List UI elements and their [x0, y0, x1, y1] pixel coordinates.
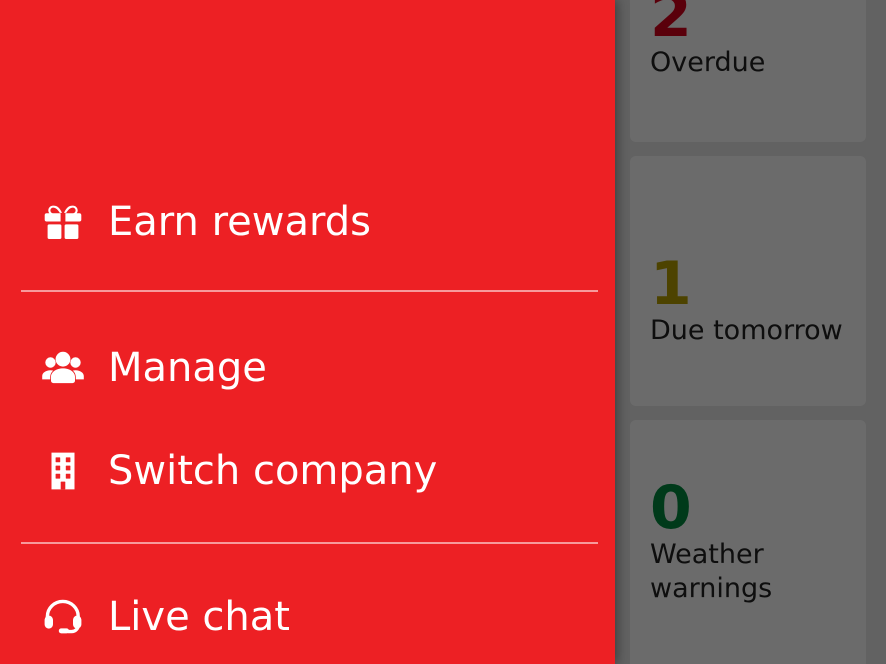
menu-item-earn-rewards[interactable]: Earn rewards [0, 184, 615, 260]
menu-item-live-chat[interactable]: Live chat [0, 579, 615, 655]
headset-icon [40, 594, 86, 640]
users-icon [40, 345, 86, 391]
menu-item-label: Earn rewards [108, 202, 371, 242]
menu-item-label: Live chat [108, 597, 290, 637]
menu-item-manage[interactable]: Manage [0, 330, 615, 406]
menu-item-label: Switch company [108, 451, 437, 491]
menu-item-label: Manage [108, 348, 267, 388]
menu-divider [21, 542, 598, 544]
menu-item-switch-company[interactable]: Switch company [0, 433, 615, 509]
app-screen: 2 Overdue 1 Due tomorrow 0 Weather warni… [0, 0, 886, 664]
menu-divider [21, 290, 598, 292]
gift-icon [40, 199, 86, 245]
building-icon [40, 448, 86, 494]
slide-out-menu-panel: Earn rewards Manage [0, 0, 615, 664]
